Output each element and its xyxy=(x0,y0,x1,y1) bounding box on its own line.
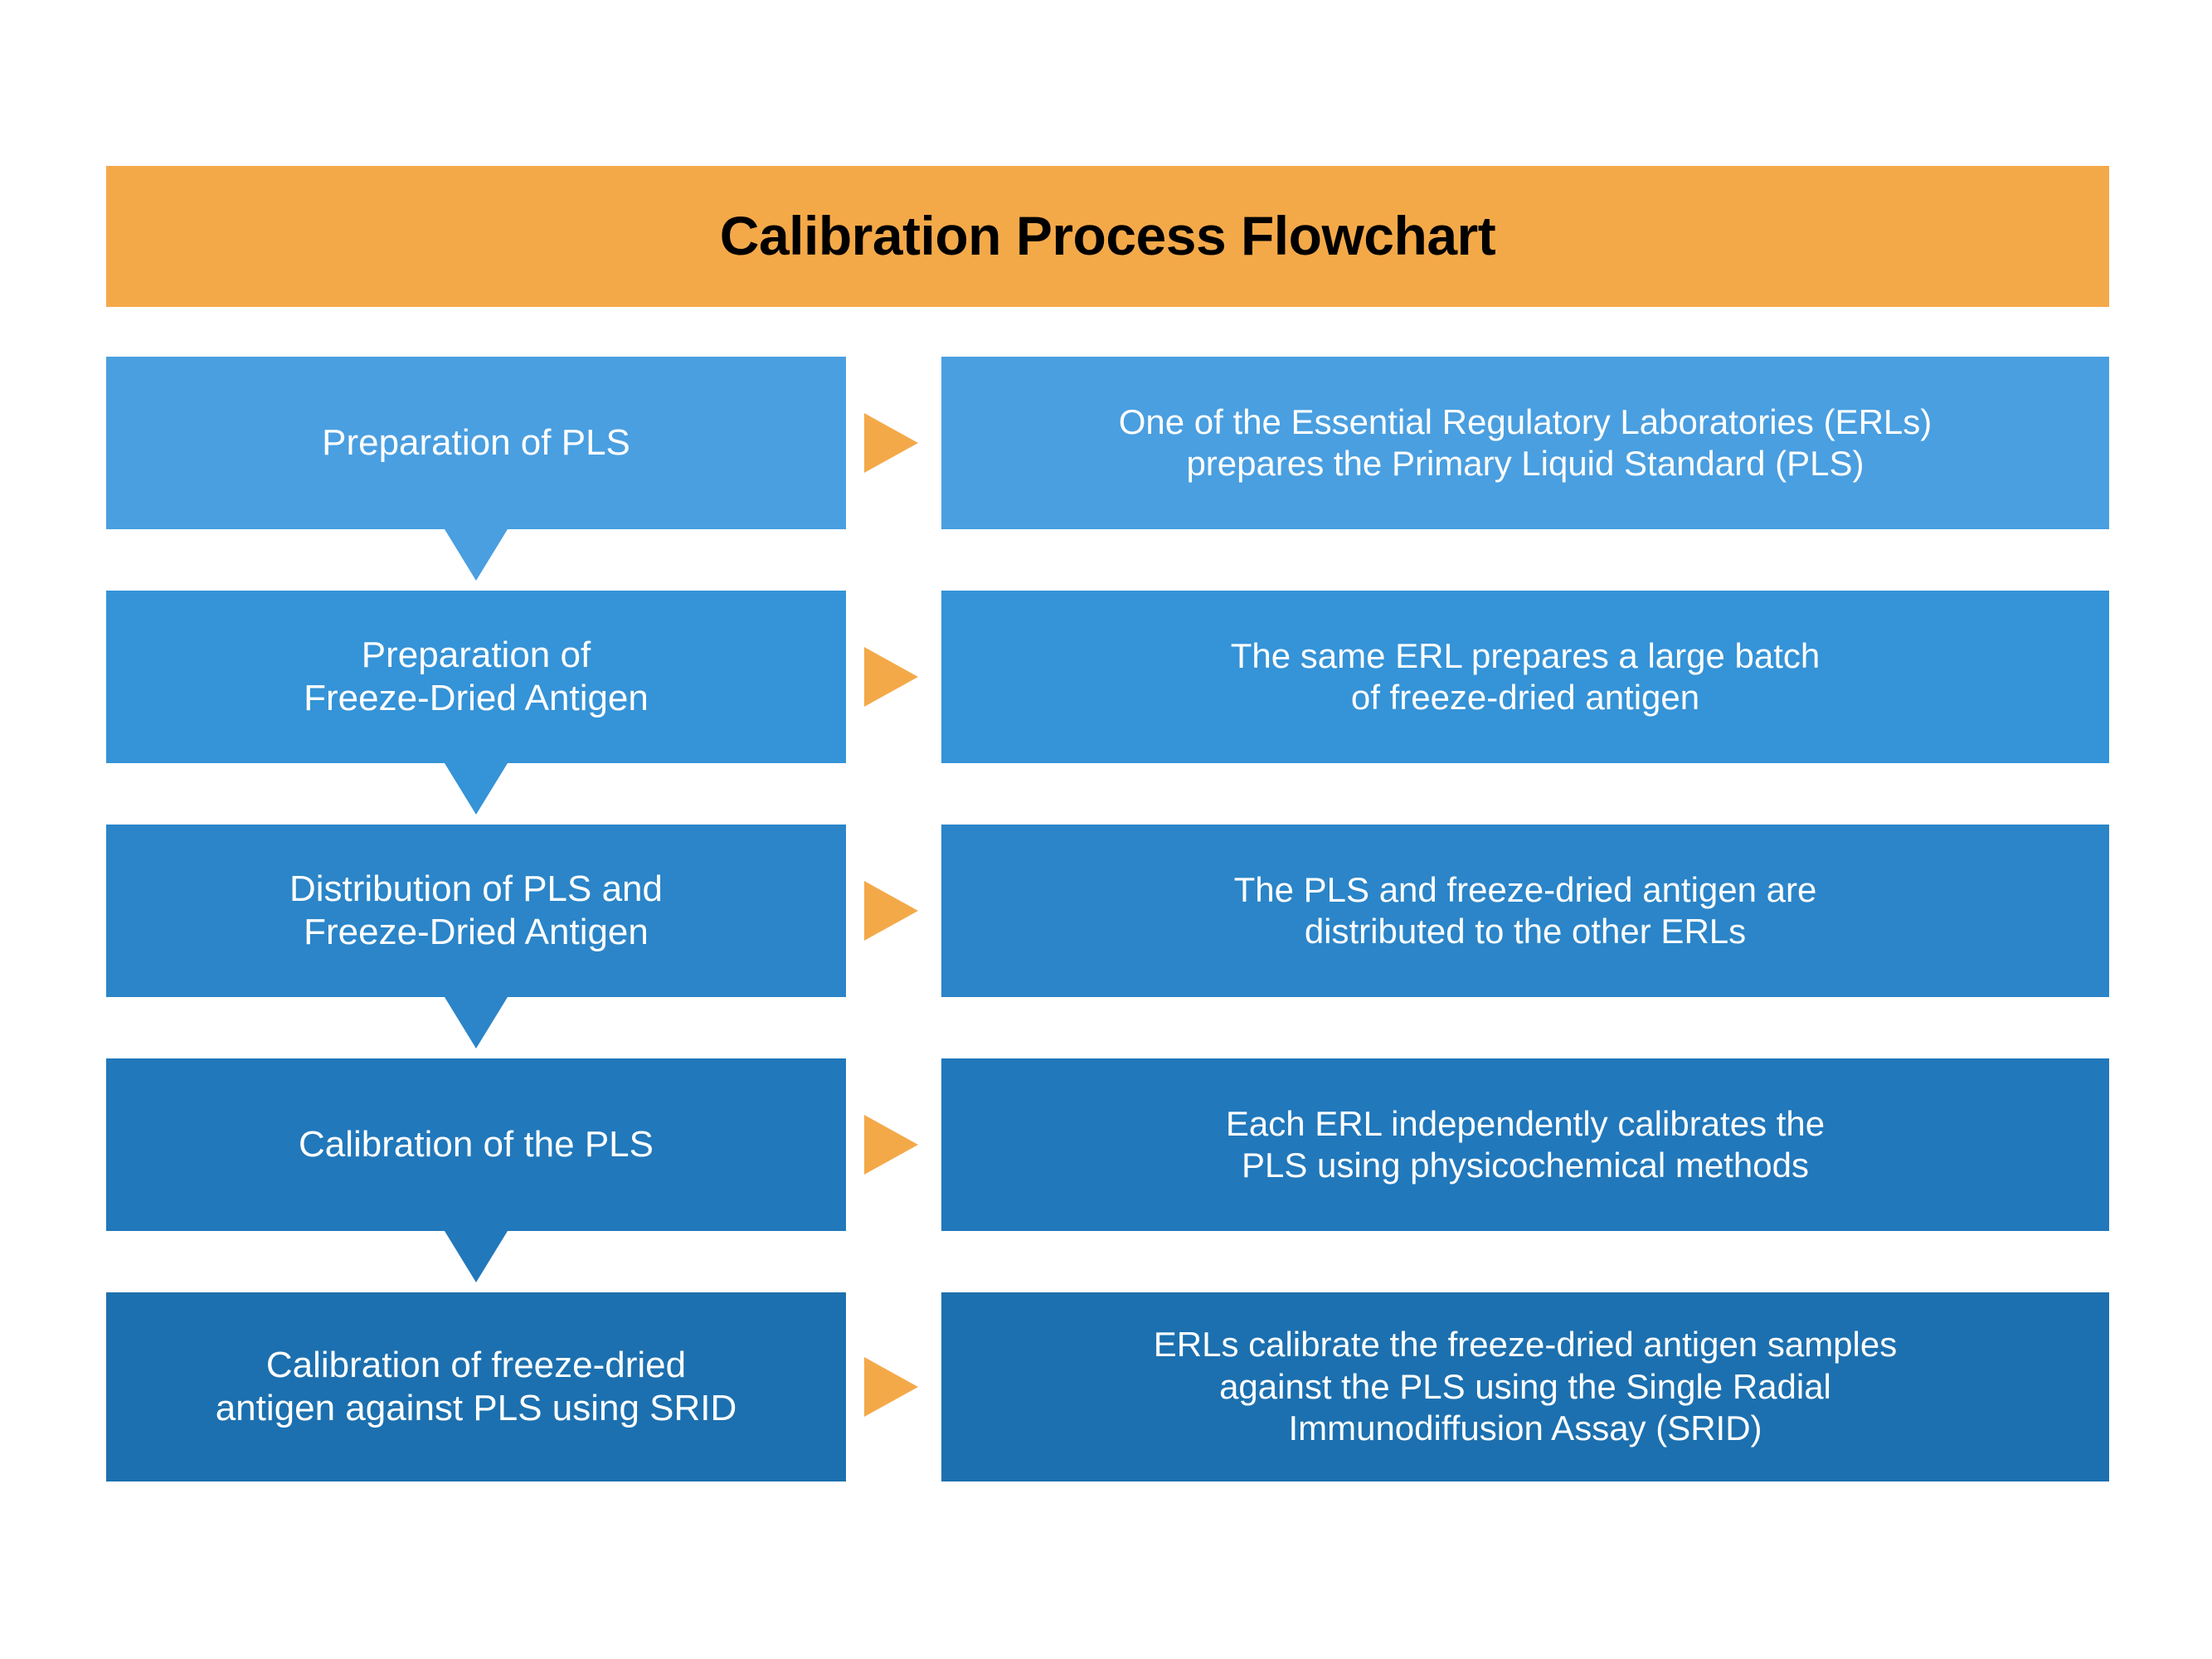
description-box-1[interactable]: One of the Essential Regulatory Laborato… xyxy=(941,357,2109,529)
flow-arrow-icon-2 xyxy=(864,647,918,707)
stage-label-2: Preparation of Freeze-Dried Antigen xyxy=(304,634,649,720)
flow-row-1: Preparation of PLS One of the Essential … xyxy=(0,357,2212,531)
stage-label-1: Preparation of PLS xyxy=(322,421,630,465)
description-text-4: Each ERL independently calibrates the PL… xyxy=(1226,1103,1825,1187)
description-box-3[interactable]: The PLS and freeze-dried antigen are dis… xyxy=(941,825,2109,997)
page-title: Calibration Process Flowchart xyxy=(720,207,1495,265)
flowchart-title-banner: Calibration Process Flowchart xyxy=(106,166,2109,307)
flow-arrow-icon-3 xyxy=(864,881,918,941)
down-connector-2 xyxy=(445,763,508,815)
flow-arrow-icon-4 xyxy=(864,1115,918,1175)
stage-label-5: Calibration of freeze-dried antigen agai… xyxy=(216,1344,737,1430)
flow-row-3: Distribution of PLS and Freeze-Dried Ant… xyxy=(0,825,2212,999)
stage-box-5[interactable]: Calibration of freeze-dried antigen agai… xyxy=(106,1292,846,1481)
stage-box-1[interactable]: Preparation of PLS xyxy=(106,357,846,529)
flow-row-5: Calibration of freeze-dried antigen agai… xyxy=(0,1292,2212,1483)
description-text-3: The PLS and freeze-dried antigen are dis… xyxy=(1234,869,1817,953)
down-connector-1 xyxy=(445,529,508,581)
flow-arrow-icon-1 xyxy=(864,413,918,473)
stage-box-2[interactable]: Preparation of Freeze-Dried Antigen xyxy=(106,591,846,763)
description-box-5[interactable]: ERLs calibrate the freeze-dried antigen … xyxy=(941,1292,2109,1481)
flow-row-2: Preparation of Freeze-Dried Antigen The … xyxy=(0,591,2212,765)
stage-box-4[interactable]: Calibration of the PLS xyxy=(106,1058,846,1231)
description-text-1: One of the Essential Regulatory Laborato… xyxy=(1119,401,1932,485)
stage-label-4: Calibration of the PLS xyxy=(299,1123,654,1166)
down-connector-3 xyxy=(445,997,508,1048)
stage-box-3[interactable]: Distribution of PLS and Freeze-Dried Ant… xyxy=(106,825,846,997)
description-box-4[interactable]: Each ERL independently calibrates the PL… xyxy=(941,1058,2109,1231)
description-text-2: The same ERL prepares a large batch of f… xyxy=(1231,635,1821,719)
stage-label-3: Distribution of PLS and Freeze-Dried Ant… xyxy=(289,868,663,954)
flow-row-4: Calibration of the PLS Each ERL independ… xyxy=(0,1058,2212,1233)
flow-arrow-icon-5 xyxy=(864,1357,918,1417)
description-text-5: ERLs calibrate the freeze-dried antigen … xyxy=(1154,1324,1897,1449)
calibration-process-flowchart: Calibration Process Flowchart Preparatio… xyxy=(0,0,2212,1659)
down-connector-4 xyxy=(445,1231,508,1282)
description-box-2[interactable]: The same ERL prepares a large batch of f… xyxy=(941,591,2109,763)
